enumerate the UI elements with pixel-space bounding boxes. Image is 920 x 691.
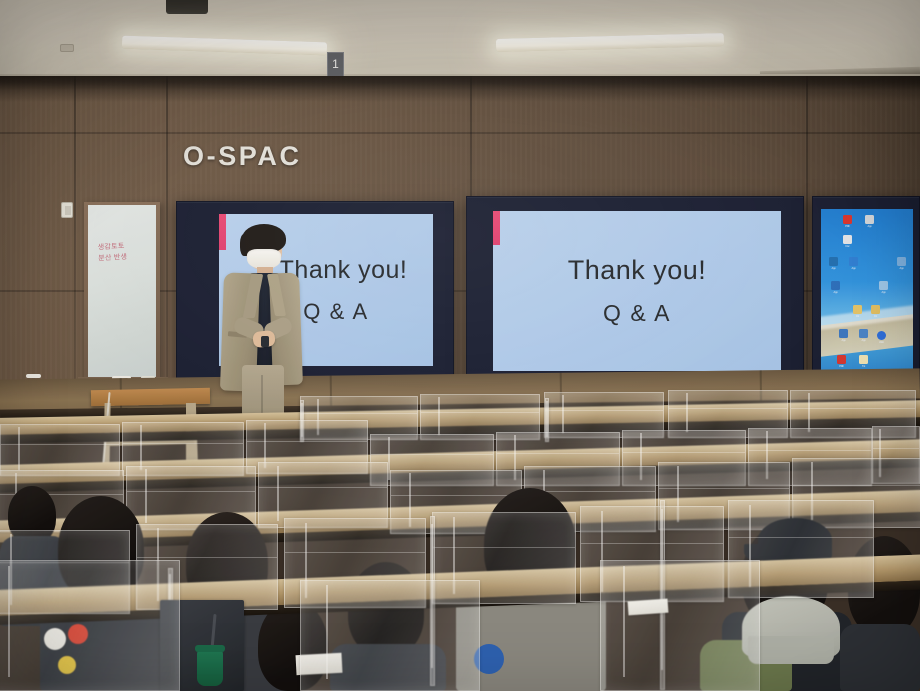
- acrylic-foreground-panel: [600, 560, 760, 691]
- note-icon[interactable]: Txt: [859, 355, 868, 368]
- acrylic-foreground-panel: [300, 580, 480, 691]
- lecture-hall-photo: 1 O-SPAC 생감토토 분산 반생 Thank you! Q & A T: [0, 0, 920, 691]
- room-sign-ospac: O-SPAC: [183, 141, 302, 172]
- wall-shadow: [0, 76, 920, 102]
- left-slide-subtitle: Q & A: [303, 299, 368, 325]
- presenter-trousers: [242, 365, 284, 417]
- acrobat-icon[interactable]: PDF: [843, 215, 852, 228]
- light-switch-plate[interactable]: [61, 202, 73, 218]
- app-icon-8[interactable]: App: [879, 281, 888, 294]
- presentation-clicker-icon: [261, 336, 269, 347]
- ceiling-speaker-icon: [166, 0, 208, 14]
- marker-icon[interactable]: [26, 374, 41, 378]
- browser-icon[interactable]: Web: [877, 331, 886, 344]
- face-mask-icon: [247, 249, 281, 269]
- ceiling-vent-icon: [60, 44, 74, 52]
- app-icon-5[interactable]: App: [849, 257, 858, 270]
- app-icon-11[interactable]: App: [839, 329, 848, 342]
- app-icon-4[interactable]: App: [829, 257, 838, 270]
- app-icon-2[interactable]: App: [865, 215, 874, 228]
- whiteboard[interactable]: [84, 202, 160, 380]
- tumbler-lid: [195, 645, 225, 652]
- screen-edge-artifact: [493, 211, 500, 245]
- folder-icon-1[interactable]: Dir: [853, 305, 862, 318]
- folder-icon-2[interactable]: Dir: [871, 305, 880, 318]
- student-far-right-body: [840, 624, 920, 691]
- right-presentation-screen[interactable]: Thank you! Q & A: [466, 196, 804, 394]
- whiteboard-surface[interactable]: [88, 205, 156, 377]
- presenter: [216, 228, 302, 413]
- document-icon[interactable]: Doc: [843, 235, 852, 248]
- right-slide-title: Thank you!: [568, 255, 707, 286]
- ceiling-sign-number: 1: [327, 52, 344, 77]
- green-tumbler: [197, 650, 223, 686]
- acrylic-desk-divider: [0, 424, 120, 476]
- pdf-icon[interactable]: PDF: [837, 355, 846, 368]
- app-icon-12[interactable]: App: [859, 329, 868, 342]
- acrylic-foreground-panel: [0, 560, 180, 691]
- app-icon-7[interactable]: App: [897, 257, 906, 270]
- app-icon-6[interactable]: App: [831, 281, 840, 294]
- gray-cap-brim: [748, 636, 834, 664]
- right-slide: Thank you! Q & A: [493, 211, 781, 371]
- right-slide-subtitle: Q & A: [603, 300, 671, 327]
- whiteboard-note: 생감토토 분산 반생: [97, 240, 150, 265]
